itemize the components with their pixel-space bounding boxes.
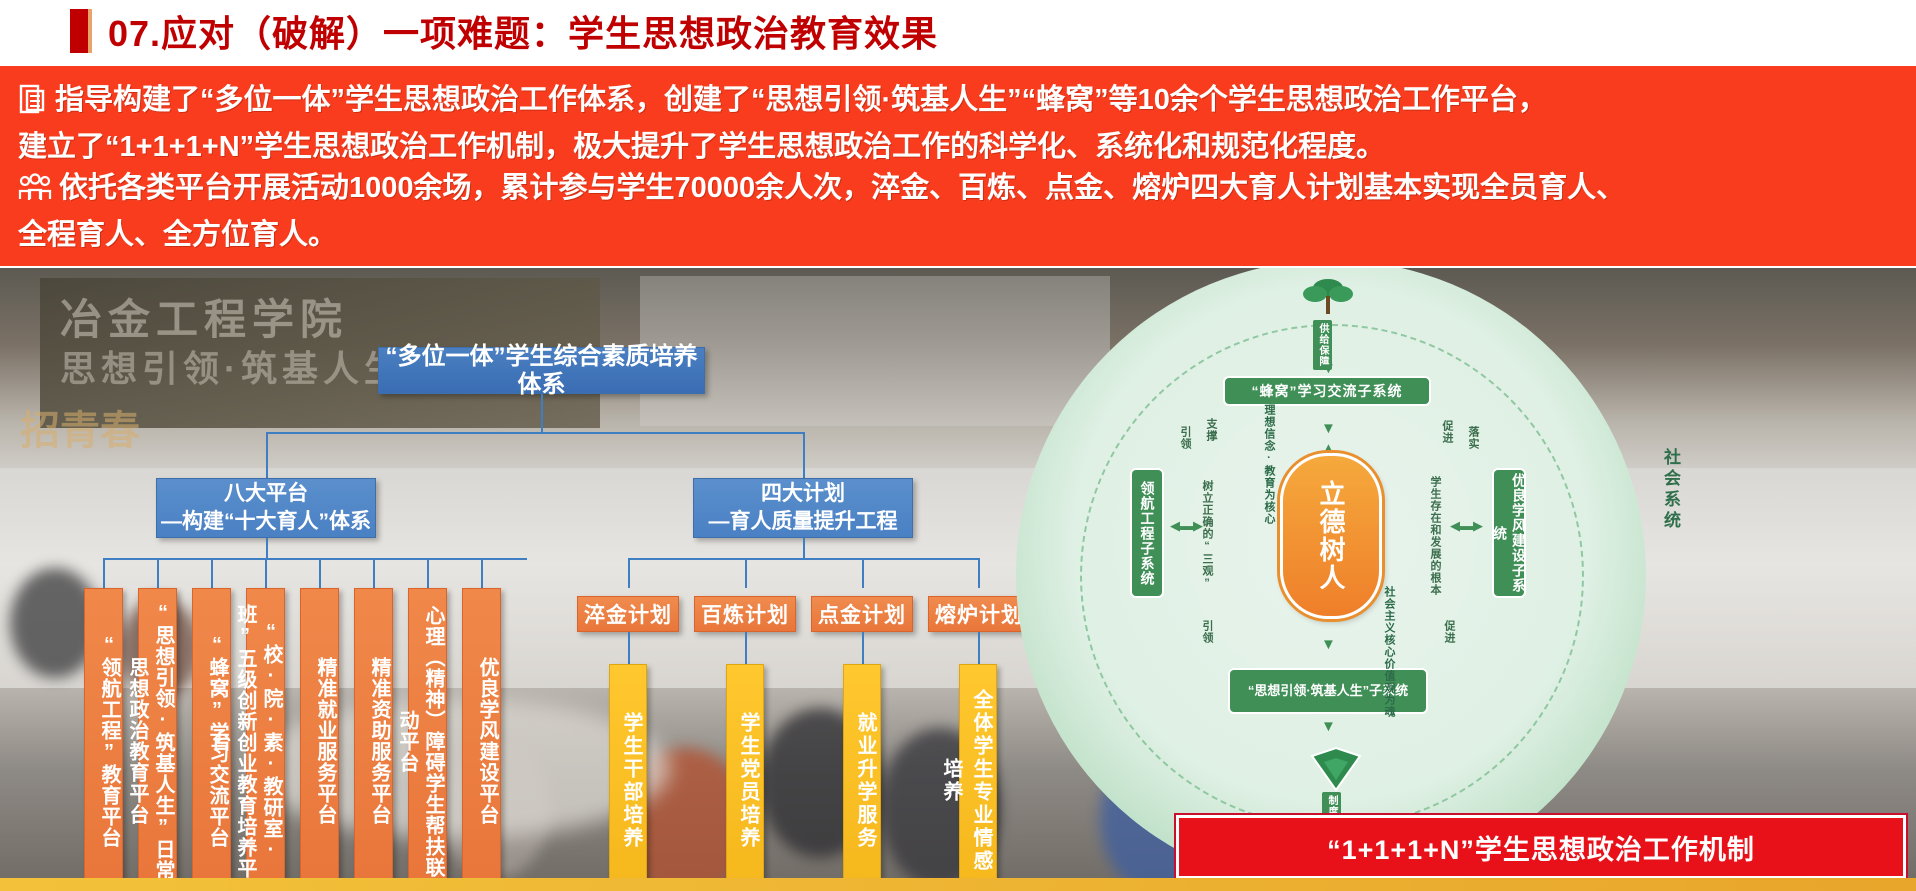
platform-label-1: “领航工程”教育平台 [96,634,122,848]
model-diag-label-tl2-text: 支撑 [1205,418,1217,442]
plan-box-3[interactable]: 点金计划 [811,596,913,632]
tree-branch-platforms[interactable]: 八大平台 —构建“十大育人”体系 [156,478,376,538]
mechanism-banner: “1+1+1+N”学生思想政治工作机制 [1176,815,1906,879]
model-axis-right-text: 学生存在和发展的根本 [1429,476,1441,596]
tree-root-label: “多位一体”学生综合素质培养体系 [379,343,704,399]
model-outer-system-text: 社会系统 [1661,448,1680,532]
plan-target-label-3: 就业升学服务 [850,712,880,850]
branch-right-line1: 四大计划 [761,480,845,508]
platform-pillar-5[interactable]: 精准就业服务平台 [300,588,339,884]
plan-target-pillar-1[interactable]: 学生干部培养 [609,664,647,884]
platform-pillar-2[interactable]: “思想引领·筑基人生”日常思想政治教育平台 [138,588,177,884]
connector-root-down [541,394,543,432]
connector-plan-drop-3 [862,558,864,588]
photo-chalk-text-2: 思想引领·筑基人生 [60,340,405,392]
platform-label-8: 优良学风建设平台 [474,657,500,825]
platform-label-5: 精准就业服务平台 [312,657,338,825]
photo-chalk-text-1: 冶金工程学院 [60,286,348,347]
model-diag-label-tr: 促进 [1440,420,1453,444]
connector-plan-target-2 [745,632,747,664]
plan-label-3: 点金计划 [818,599,906,629]
model-axis-left-label: 树立正确的“三观” [1200,480,1213,590]
tree-root-node[interactable]: “多位一体”学生综合素质培养体系 [378,347,705,394]
connector-platform-drop-4 [265,558,267,588]
connector-plans-bus [628,558,978,560]
branch-right-line2: —育人质量提升工程 [709,508,898,536]
model-diag-label-br: 促进 [1442,620,1455,644]
connector-left-branch-down [266,432,268,484]
model-axis-right-label: 学生存在和发展的根本 [1428,476,1441,596]
connector-plan-drop-2 [745,558,747,588]
platform-label-7: 心理（精神）障碍学生帮扶联动平台 [394,599,446,883]
branch-left-line1: 八大平台 [224,480,308,508]
arrow-down-top: ▼ [1321,360,1336,377]
model-diag-label-tr2-text: 落实 [1467,426,1479,450]
banner-line-2: 建立了“1+1+1+N”学生思想政治工作机制，极大提升了学生思想政治工作的科学化… [18,127,1898,168]
model-top-subsystem[interactable]: “蜂窝”学习交流子系统 [1223,376,1431,406]
page-header: 07.应对（破解）一项难题：学生思想政治教育效果 [0,0,1916,62]
page-title: 07.应对（破解）一项难题：学生思想政治教育效果 [108,5,938,57]
banner-text-2: 建立了“1+1+1+N”学生思想政治工作机制，极大提升了学生思想政治工作的科学化… [18,131,1385,163]
tree-icon [1296,274,1360,320]
platform-pillar-4[interactable]: “校·院·素·教研室·班”五级创新创业教育培养平台 [246,588,285,884]
education-model-diagram: 供给保障 ▼ “蜂窝”学习交流子系统 ▼ ▲ 立德树人 领航工程子系统 优良学风… [1010,268,1916,891]
connector-root-horizontal [266,432,804,434]
arrow-left-center: ◀▬▶ [1170,518,1203,534]
platform-pillar-6[interactable]: 精准资助服务平台 [354,588,393,884]
model-center-core[interactable]: 立德树人 [1280,453,1382,619]
plan-label-2: 百炼计划 [701,599,789,629]
connector-right-branch-down [803,432,805,484]
connector-platform-drop-6 [373,558,375,588]
connector-platform-drop-7 [427,558,429,588]
connector-platforms-bus [103,558,527,560]
platform-label-6: 精准资助服务平台 [366,657,392,825]
model-diag-label-tl: 引领 [1178,426,1191,450]
arrow-down-bottom: ▼ [1321,636,1336,653]
model-bottom-subsystem[interactable]: “思想引领·筑基人生”子系统 [1228,668,1428,714]
bottom-yellow-strip [0,878,1916,891]
model-core-label-2: 社会主义核心价值观为魂 [1382,586,1395,718]
document-icon [18,83,48,127]
plan-target-pillar-2[interactable]: 学生党员培养 [726,664,764,884]
connector-platform-drop-5 [319,558,321,588]
photo-chalk-text-3: 招青春 [20,398,140,456]
header-accent-bar [70,9,92,53]
connector-plan-drop-1 [628,558,630,588]
connector-plan-target-1 [628,632,630,664]
model-right-subsystem-label: 优良学风建设子系统 [1490,470,1528,596]
model-top-subsystem-label: “蜂窝”学习交流子系统 [1252,381,1403,401]
platform-label-2: “思想引领·筑基人生”日常思想政治教育平台 [124,599,176,883]
arrow-up-bottom: ▼ [1321,718,1336,735]
model-core-label-1: 理想信念·教育为核心 [1262,404,1275,525]
model-diag-label-tr2: 落实 [1466,426,1479,450]
connector-platform-drop-2 [157,558,159,588]
model-left-subsystem-label: 领航工程子系统 [1138,481,1157,586]
model-left-subsystem[interactable]: 领航工程子系统 [1130,468,1164,598]
banner-line-4: 全程育人、全方位育人。 [18,215,1898,256]
connector-plan-target-3 [862,632,864,664]
model-diag-label-tr-text: 促进 [1441,420,1453,444]
plan-target-label-1: 学生干部培养 [616,712,646,850]
plan-target-pillar-3[interactable]: 就业升学服务 [843,664,881,884]
model-diag-label-bl-text: 引领 [1201,620,1213,644]
arrow-right-center: ◀▬▶ [1450,518,1483,534]
platform-label-4: “校·院·素·教研室·班”五级创新创业教育培养平台 [206,599,284,883]
plan-target-label-4: 全体学生专业情感培养 [936,679,996,883]
summary-banner: 指导构建了“多位一体”学生思想政治工作体系，创建了“思想引领·筑基人生”“蜂窝”… [0,66,1916,266]
model-diag-label-bl: 引领 [1200,620,1213,644]
mechanism-banner-label: “1+1+1+N”学生思想政治工作机制 [1327,828,1755,867]
banner-line-3: 依托各类平台开展活动1000余场，累计参与学生70000余人次，淬金、百炼、点金… [18,168,1898,215]
connector-platform-drop-8 [481,558,483,588]
banner-line-1: 指导构建了“多位一体”学生思想政治工作体系，创建了“思想引领·筑基人生”“蜂窝”… [18,80,1898,127]
model-diag-label-tl2: 支撑 [1204,418,1217,442]
model-center-label: 立德树人 [1314,480,1348,592]
plan-box-2[interactable]: 百炼计划 [694,596,796,632]
banner-text-1: 指导构建了“多位一体”学生思想政治工作体系，创建了“思想引领·筑基人生”“蜂窝”… [55,84,1547,116]
model-core-label-1-text: 理想信念·教育为核心 [1263,404,1275,525]
platform-pillar-8[interactable]: 优良学风建设平台 [462,588,501,884]
arrow-down-to-center: ▼ [1321,420,1336,437]
connector-platforms-stem [266,538,268,558]
tree-branch-plans[interactable]: 四大计划 —育人质量提升工程 [693,478,913,538]
connector-platform-drop-1 [103,558,105,588]
plan-target-label-2: 学生党员培养 [733,712,763,850]
people-icon [18,173,52,215]
platform-pillar-1[interactable]: “领航工程”教育平台 [84,588,123,884]
plan-box-1[interactable]: 淬金计划 [577,596,679,632]
model-axis-left-text: 树立正确的“三观” [1201,480,1213,590]
branch-left-line2: —构建“十大育人”体系 [161,508,371,536]
connector-plans-stem [803,538,805,558]
platform-pillar-7[interactable]: 心理（精神）障碍学生帮扶联动平台 [408,588,447,884]
shield-icon [1310,746,1362,797]
model-diag-label-tl-text: 引领 [1179,426,1191,450]
connector-platform-drop-3 [211,558,213,588]
model-diag-label-br-text: 促进 [1443,620,1455,644]
connector-plan-target-4 [978,632,980,664]
connector-plan-drop-4 [978,558,980,588]
model-core-label-2-text: 社会主义核心价值观为魂 [1383,586,1395,718]
model-right-subsystem[interactable]: 优良学风建设子系统 [1492,468,1526,598]
banner-text-4: 全程育人、全方位育人。 [18,219,337,251]
model-outer-system-label: 社会系统 [1658,448,1683,532]
plan-label-1: 淬金计划 [584,599,672,629]
banner-text-3: 依托各类平台开展活动1000余场，累计参与学生70000余人次，淬金、百炼、点金… [59,172,1625,204]
plan-target-pillar-4[interactable]: 全体学生专业情感培养 [959,664,997,884]
